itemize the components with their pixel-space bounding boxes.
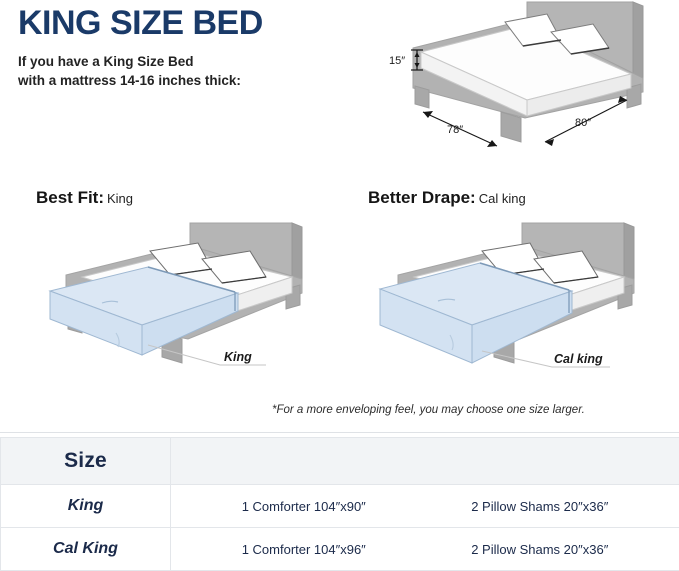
page-title: KING SIZE BED [18, 6, 368, 42]
table-row: King 1 Comforter 104″x90″ 2 Pillow Shams… [1, 485, 679, 528]
height-dimension-label: 15″ [389, 55, 405, 67]
comforter-spec: 1 Comforter 104″x90″ [242, 499, 366, 514]
header-block: KING SIZE BED If you have a King Size Be… [18, 6, 368, 91]
shams-spec: 2 Pillow Shams 20″x36″ [471, 542, 608, 557]
row-size-cal-king: Cal King [1, 528, 171, 571]
shams-spec: 2 Pillow Shams 20″x36″ [471, 499, 608, 514]
better-drape-heading: Better Drape:Cal king [368, 188, 526, 208]
row-spec-king: 1 Comforter 104″x90″ 2 Pillow Shams 20″x… [171, 485, 679, 528]
best-fit-heading: Best Fit:King [36, 188, 133, 208]
subtitle-line-1: If you have a King Size Bed [18, 52, 368, 72]
subtitle-line-2: with a mattress 14-16 inches thick: [18, 71, 368, 91]
row-size-king: King [1, 485, 171, 528]
best-fit-label: Best Fit: [36, 188, 104, 207]
table-header-row: Size [1, 438, 679, 485]
footnote-divider [0, 432, 679, 433]
king-bed-dimension-diagram: 15″ 78″ 80″ [375, 0, 679, 160]
row-spec-cal-king: 1 Comforter 104″x96″ 2 Pillow Shams 20″x… [171, 528, 679, 571]
length-dimension-label: 80″ [575, 117, 591, 129]
table-row: Cal King 1 Comforter 104″x96″ 2 Pillow S… [1, 528, 679, 571]
table-header-size: Size [1, 438, 171, 485]
comforter-spec: 1 Comforter 104″x96″ [242, 542, 366, 557]
better-drape-value: Cal king [479, 191, 526, 206]
size-spec-table: Size King 1 Comforter 104″x90″ 2 Pillow … [0, 437, 679, 571]
best-fit-bed-diagram: King [30, 215, 350, 380]
best-fit-value: King [107, 191, 133, 206]
table-header-spec [171, 438, 679, 485]
better-drape-bed-diagram: Cal king [362, 215, 679, 380]
best-fit-callout-label: King [224, 350, 252, 364]
better-drape-callout-label: Cal king [554, 352, 603, 366]
width-dimension-label: 78″ [447, 124, 463, 136]
better-drape-label: Better Drape: [368, 188, 476, 207]
footnote-text: *For a more enveloping feel, you may cho… [272, 404, 585, 416]
